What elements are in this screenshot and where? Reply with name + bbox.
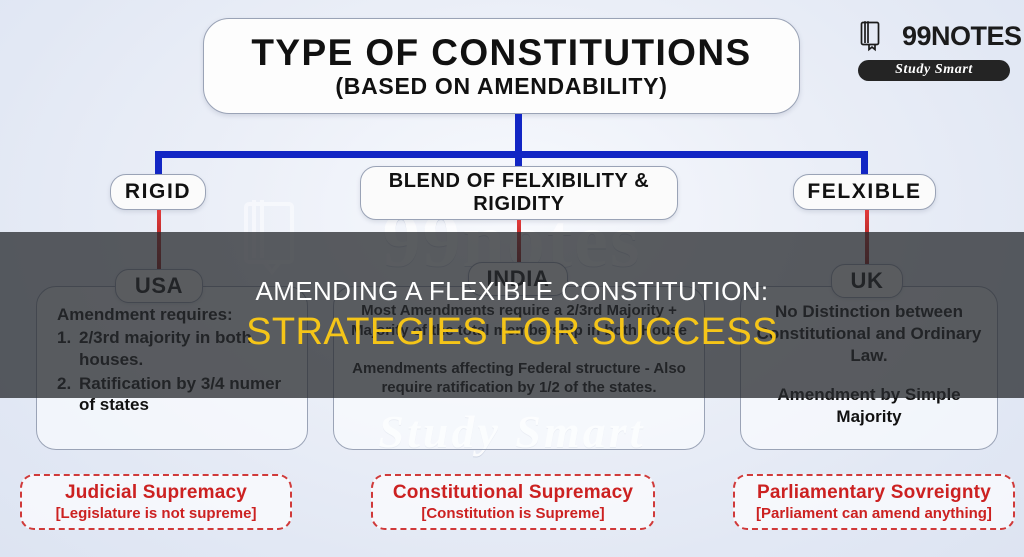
connector-horizontal-bar (155, 151, 868, 158)
category-blend[interactable]: BLEND OF FELXIBILITY & RIGIDITY (360, 166, 678, 220)
logo-tagline: Study Smart (858, 60, 1010, 81)
panel-usa-lead: Amendment requires: (57, 305, 295, 325)
panel-india-block-1: Most Amendments require a 2/3rd Majority… (346, 301, 692, 341)
country-chip-usa[interactable]: USA (115, 269, 203, 303)
list-number: 2. (57, 373, 79, 395)
list-item: 2.Ratification by 3/4 numer of states (57, 373, 295, 417)
list-text: 2/3rd majority in both houses. (79, 328, 252, 369)
panel-uk-block-2: Amendment by Simple Majority (753, 384, 985, 428)
list-text: Ratification by 3/4 numer of states (79, 374, 281, 415)
panel-india: Most Amendments require a 2/3rd Majority… (333, 286, 705, 450)
list-number: 1. (57, 327, 79, 349)
category-flexible[interactable]: FELXIBLE (793, 174, 936, 210)
country-chip-india[interactable]: INDIA (468, 262, 568, 296)
panel-usa-list: 1.2/3rd majority in both houses. 2.Ratif… (57, 327, 295, 416)
panel-india-block-2: Amendments affecting Federal structure -… (346, 359, 692, 399)
category-blend-label: BLEND OF FELXIBILITY & RIGIDITY (361, 170, 677, 216)
outcome-usa-title: Judicial Supremacy (65, 482, 247, 504)
country-chip-uk[interactable]: UK (831, 264, 903, 298)
category-flexible-label: FELXIBLE (807, 180, 921, 204)
country-uk-label: UK (851, 268, 884, 294)
outcome-india: Constitutional Supremacy [Constitution i… (371, 474, 655, 530)
country-usa-label: USA (135, 273, 183, 299)
infographic-canvas: 99notes Study Smart 99NOTES Study Smart (0, 0, 1024, 557)
category-rigid[interactable]: RIGID (110, 174, 206, 210)
logo-wordmark: 99NOTES (902, 23, 1022, 50)
country-india-label: INDIA (487, 266, 550, 292)
panel-usa: Amendment requires: 1.2/3rd majority in … (36, 286, 308, 450)
list-item: 1.2/3rd majority in both houses. (57, 327, 295, 371)
title-line-1: TYPE OF CONSTITUTIONS (251, 34, 751, 73)
connector-red-usa (157, 210, 161, 272)
category-rigid-label: RIGID (125, 180, 191, 204)
outcome-india-sub: [Constitution is Supreme] (421, 505, 604, 522)
outcome-india-title: Constitutional Supremacy (393, 482, 633, 504)
connector-red-india (517, 220, 521, 265)
brand-logo: 99NOTES Study Smart (858, 16, 1010, 81)
title-line-2: (BASED ON AMENDABILITY) (335, 74, 667, 98)
outcome-uk-title: Parliamentary Sovreignty (757, 482, 991, 504)
connector-trunk-vertical (515, 114, 522, 166)
panel-uk-block-1: No Distinction between Constitutional an… (753, 301, 985, 367)
outcome-usa: Judicial Supremacy [Legislature is not s… (20, 474, 292, 530)
outcome-uk-sub: [Parliament can amend anything] (756, 505, 992, 522)
connector-red-uk (865, 210, 869, 266)
book-icon (858, 20, 884, 52)
outcome-uk: Parliamentary Sovreignty [Parliament can… (733, 474, 1015, 530)
page-title: TYPE OF CONSTITUTIONS (BASED ON AMENDABI… (203, 18, 800, 114)
panel-uk: No Distinction between Constitutional an… (740, 286, 998, 450)
book-watermark-icon (238, 196, 308, 276)
outcome-usa-sub: [Legislature is not supreme] (56, 505, 257, 522)
